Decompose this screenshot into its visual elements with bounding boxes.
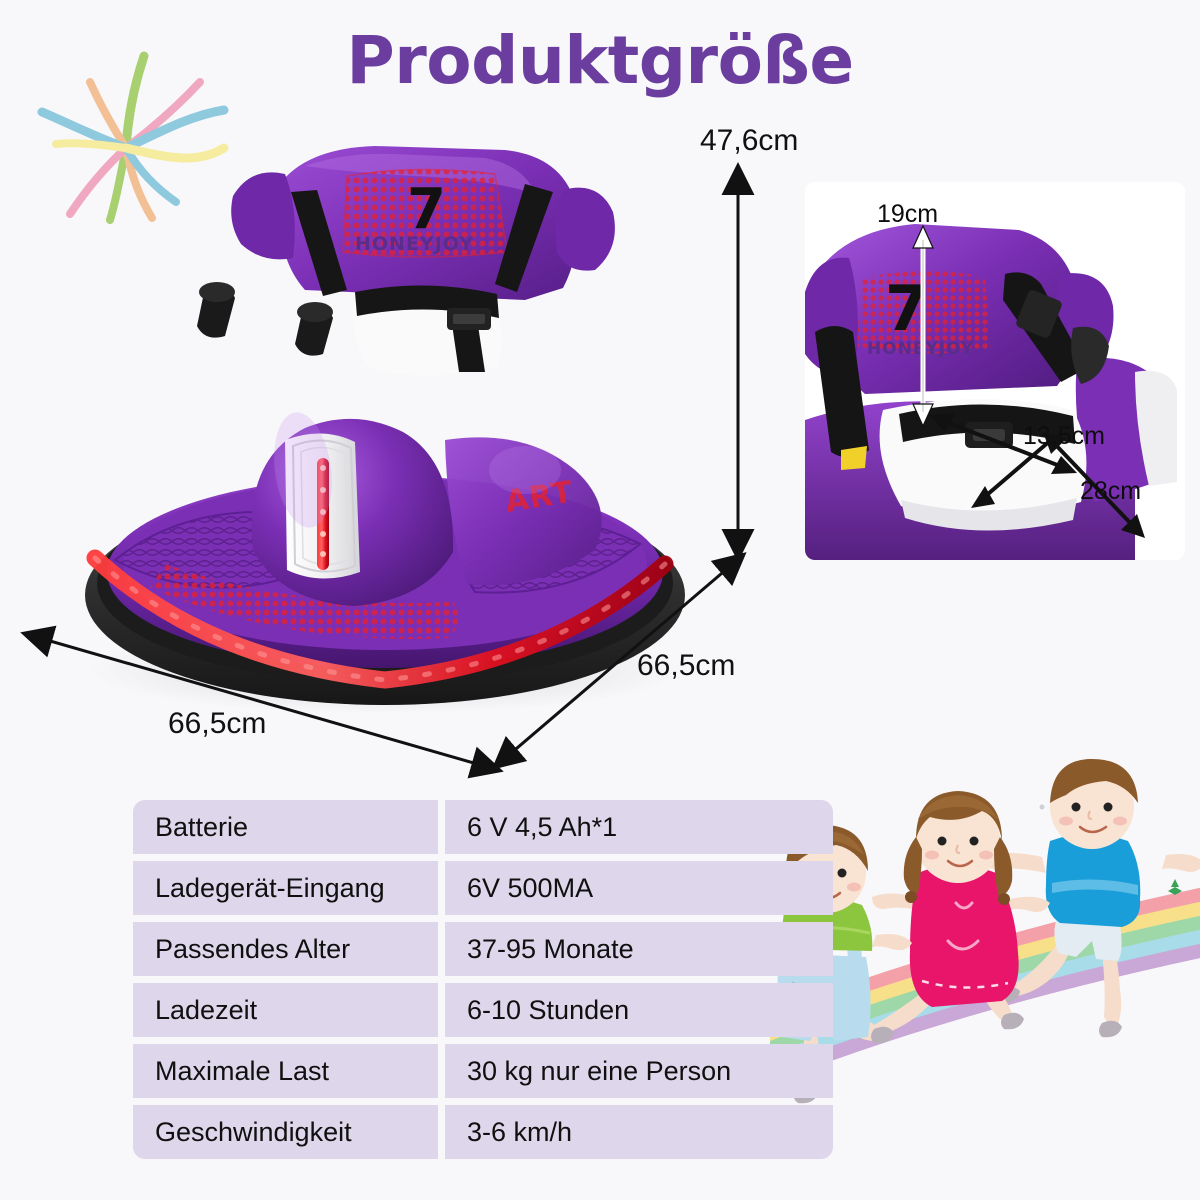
spec-value: 6 V 4,5 Ah*1 xyxy=(445,800,833,854)
spec-key: Ladegerät-Eingang xyxy=(133,861,438,915)
inset-label-seat-depth: 13,5cm xyxy=(1023,422,1105,451)
table-row: Ladegerät-Eingang 6V 500MA xyxy=(133,861,833,915)
spec-key: Passendes Alter xyxy=(133,922,438,976)
table-row: Geschwindigkeit 3-6 km/h xyxy=(133,1105,833,1159)
dimension-label-height: 47,6cm xyxy=(700,124,798,158)
spec-key: Maximale Last xyxy=(133,1044,438,1098)
spec-value: 3-6 km/h xyxy=(445,1105,833,1159)
infographic-page: Produktgröße xyxy=(0,0,1200,1200)
specification-table: Batterie 6 V 4,5 Ah*1 Ladegerät-Eingang … xyxy=(133,800,833,1159)
table-row: Ladezeit 6-10 Stunden xyxy=(133,983,833,1037)
inset-label-seat-width: 28cm xyxy=(1080,477,1141,506)
seat-detail-inset: 7 HONEYJOY xyxy=(805,182,1185,560)
spec-value: 6V 500MA xyxy=(445,861,833,915)
product-photo-bumper-car: ART 7 HONEYJOY xyxy=(55,140,715,720)
spec-key: Geschwindigkeit xyxy=(133,1105,438,1159)
kids-rainbow-illustration xyxy=(770,745,1200,1200)
table-row: Maximale Last 30 kg nur eine Person xyxy=(133,1044,833,1098)
dimension-label-depth: 66,5cm xyxy=(637,649,735,683)
spec-value: 30 kg nur eine Person xyxy=(445,1044,833,1098)
spec-key: Batterie xyxy=(133,800,438,854)
inset-label-backrest-height: 19cm xyxy=(877,200,938,229)
spec-key: Ladezeit xyxy=(133,983,438,1037)
table-row: Batterie 6 V 4,5 Ah*1 xyxy=(133,800,833,854)
spec-value: 6-10 Stunden xyxy=(445,983,833,1037)
dimension-label-width: 66,5cm xyxy=(168,707,266,741)
table-row: Passendes Alter 37-95 Monate xyxy=(133,922,833,976)
spec-value: 37-95 Monate xyxy=(445,922,833,976)
svg-text:HONEYJOY: HONEYJOY xyxy=(355,233,474,255)
